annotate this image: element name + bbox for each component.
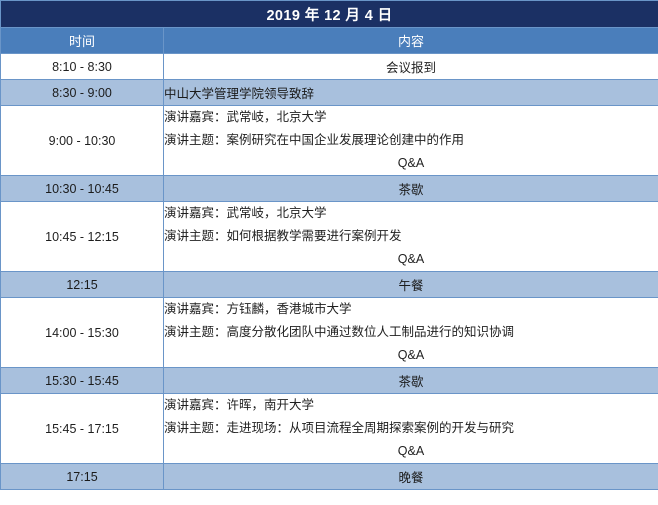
schedule-time-cell: 15:30 - 15:45 [1,368,164,394]
session-qa: Q&A [164,152,658,175]
schedule-row: 17:15晚餐 [1,464,658,490]
session-topic: 演讲主题：如何根据教学需要进行案例开发 [164,225,658,248]
conference-schedule-table: 2019 年 12 月 4 日 时间 内容 8:10 - 8:30会议报到8:3… [0,0,658,490]
column-header-time: 时间 [1,28,164,54]
schedule-session-cell: 演讲嘉宾：武常岐，北京大学演讲主题：如何根据教学需要进行案例开发Q&A [164,202,658,272]
session-speaker: 演讲嘉宾：武常岐，北京大学 [164,106,658,129]
schedule-row: 10:30 - 10:45茶歇 [1,176,658,202]
schedule-session-cell: 演讲嘉宾：方钰麟，香港城市大学演讲主题：高度分散化团队中通过数位人工制品进行的知… [164,298,658,368]
schedule-time-cell: 9:00 - 10:30 [1,106,164,176]
column-header-row: 时间 内容 [1,28,658,54]
schedule-content-cell: 会议报到 [164,54,658,80]
schedule-time-cell: 10:30 - 10:45 [1,176,164,202]
schedule-time-cell: 8:30 - 9:00 [1,80,164,106]
schedule-body: 2019 年 12 月 4 日 时间 内容 8:10 - 8:30会议报到8:3… [1,1,658,490]
session-qa: Q&A [164,440,658,463]
schedule-row: 15:30 - 15:45茶歇 [1,368,658,394]
session-qa: Q&A [164,344,658,367]
schedule-row: 8:10 - 8:30会议报到 [1,54,658,80]
schedule-row: 14:00 - 15:30演讲嘉宾：方钰麟，香港城市大学演讲主题：高度分散化团队… [1,298,658,368]
schedule-content-cell: 晚餐 [164,464,658,490]
schedule-row: 15:45 - 17:15演讲嘉宾：许晖，南开大学演讲主题：走进现场：从项目流程… [1,394,658,464]
schedule-time-cell: 14:00 - 15:30 [1,298,164,368]
schedule-row: 8:30 - 9:00中山大学管理学院领导致辞 [1,80,658,106]
session-speaker: 演讲嘉宾：方钰麟，香港城市大学 [164,298,658,321]
schedule-time-cell: 17:15 [1,464,164,490]
schedule-time-cell: 15:45 - 17:15 [1,394,164,464]
session-speaker: 演讲嘉宾：武常岐，北京大学 [164,202,658,225]
schedule-row: 9:00 - 10:30演讲嘉宾：武常岐，北京大学演讲主题：案例研究在中国企业发… [1,106,658,176]
column-header-content: 内容 [164,28,658,54]
schedule-row: 10:45 - 12:15演讲嘉宾：武常岐，北京大学演讲主题：如何根据教学需要进… [1,202,658,272]
session-topic: 演讲主题：高度分散化团队中通过数位人工制品进行的知识协调 [164,321,658,344]
schedule-row: 12:15午餐 [1,272,658,298]
schedule-time-cell: 10:45 - 12:15 [1,202,164,272]
schedule-content-cell: 茶歇 [164,176,658,202]
schedule-session-cell: 演讲嘉宾：许晖，南开大学演讲主题：走进现场：从项目流程全周期探索案例的开发与研究… [164,394,658,464]
schedule-session-cell: 演讲嘉宾：武常岐，北京大学演讲主题：案例研究在中国企业发展理论创建中的作用Q&A [164,106,658,176]
schedule-title: 2019 年 12 月 4 日 [1,1,658,28]
schedule-content-cell: 茶歇 [164,368,658,394]
session-qa: Q&A [164,248,658,271]
schedule-time-cell: 12:15 [1,272,164,298]
session-topic: 演讲主题：走进现场：从项目流程全周期探索案例的开发与研究 [164,417,658,440]
title-row: 2019 年 12 月 4 日 [1,1,658,28]
session-speaker: 演讲嘉宾：许晖，南开大学 [164,394,658,417]
schedule-content-cell: 午餐 [164,272,658,298]
session-topic: 演讲主题：案例研究在中国企业发展理论创建中的作用 [164,129,658,152]
schedule-content-cell: 中山大学管理学院领导致辞 [164,80,658,106]
schedule-time-cell: 8:10 - 8:30 [1,54,164,80]
